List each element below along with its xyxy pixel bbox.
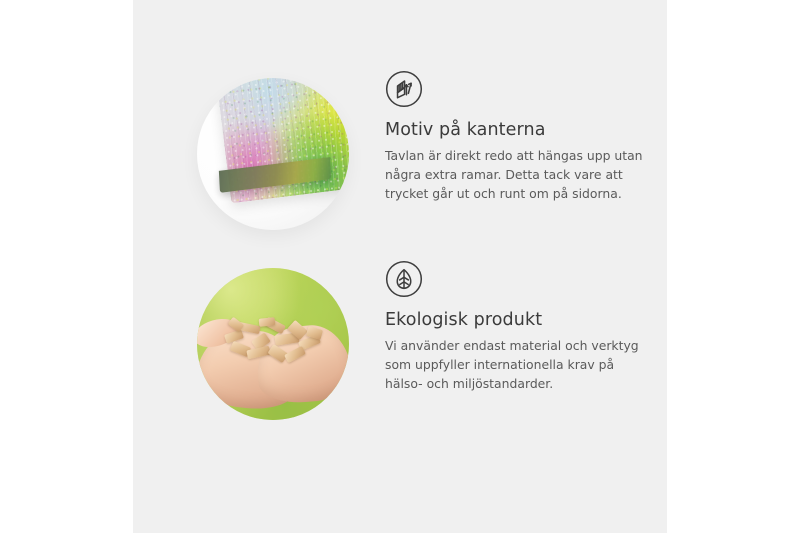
feature-title: Motiv på kanterna bbox=[385, 120, 665, 141]
feature-body: Vi använder endast material och verktyg … bbox=[385, 337, 647, 394]
canvas-corner-photo bbox=[197, 78, 349, 230]
woodchips-in-hands-photo bbox=[197, 268, 349, 420]
feature-text-block-1: Motiv på kanterna Tavlan är direkt redo … bbox=[385, 70, 665, 204]
canvas-photo-circle bbox=[197, 78, 349, 230]
feature-body: Tavlan är direkt redo att hängas upp uta… bbox=[385, 147, 647, 204]
feature-text-block-2: Ekologisk produkt Vi använder endast mat… bbox=[385, 260, 665, 394]
feature-row-ekologisk-produkt: Ekologisk produkt Vi använder endast mat… bbox=[133, 260, 667, 450]
product-features-panel: Motiv på kanterna Tavlan är direkt redo … bbox=[133, 0, 667, 533]
screenshot-stage: Motiv på kanterna Tavlan är direkt redo … bbox=[0, 0, 800, 533]
feature-title: Ekologisk produkt bbox=[385, 310, 665, 331]
canvas-wrapped-edges-icon bbox=[385, 70, 423, 108]
leaf-icon bbox=[385, 260, 423, 298]
wood-chip-pile bbox=[223, 318, 327, 368]
feature-row-motiv-pa-kanterna: Motiv på kanterna Tavlan är direkt redo … bbox=[133, 70, 667, 270]
woodchips-photo-circle bbox=[197, 268, 349, 420]
cupped-hands bbox=[197, 314, 349, 418]
